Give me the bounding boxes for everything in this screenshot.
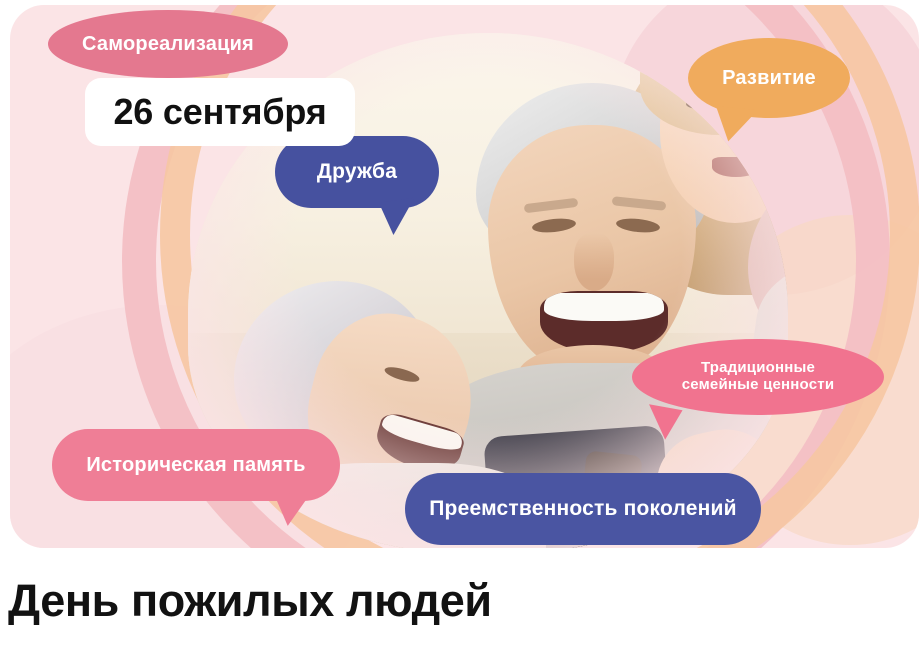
bubble-traditional-family-values-label: Традиционные семейные ценности	[682, 360, 835, 394]
bubble-friendship: Дружба	[275, 136, 439, 208]
bubble-development: Развитие	[688, 38, 850, 118]
bubble-friendship-tail	[379, 198, 419, 237]
bubble-trad-line-1: Традиционные	[701, 359, 815, 376]
poster-page: Самореализация Развитие Дружба Традицион…	[0, 0, 919, 648]
bubble-historical-memory-tail	[274, 491, 315, 527]
page-title: День пожилых людей	[8, 575, 492, 627]
bubble-friendship-label: Дружба	[317, 160, 397, 184]
bubble-historical-memory-label: Историческая память	[86, 454, 305, 476]
bubble-development-label: Развитие	[722, 67, 816, 89]
bubble-generational-continuity-label: Преемственность поколений	[429, 497, 736, 521]
bubble-self-realization: Самореализация	[48, 10, 288, 78]
bubble-trad-line-2: семейные ценности	[682, 376, 835, 393]
event-card: Самореализация Развитие Дружба Традицион…	[10, 5, 919, 548]
bubble-generational-continuity: Преемственность поколений	[405, 473, 761, 545]
bubble-development-tail	[712, 106, 757, 144]
bubble-historical-memory: Историческая память	[52, 429, 340, 501]
bubble-traditional-family-values: Традиционные семейные ценности	[632, 339, 884, 415]
bubble-traditional-family-values-tail	[643, 404, 682, 441]
event-date-chip: 26 сентября	[85, 78, 355, 146]
